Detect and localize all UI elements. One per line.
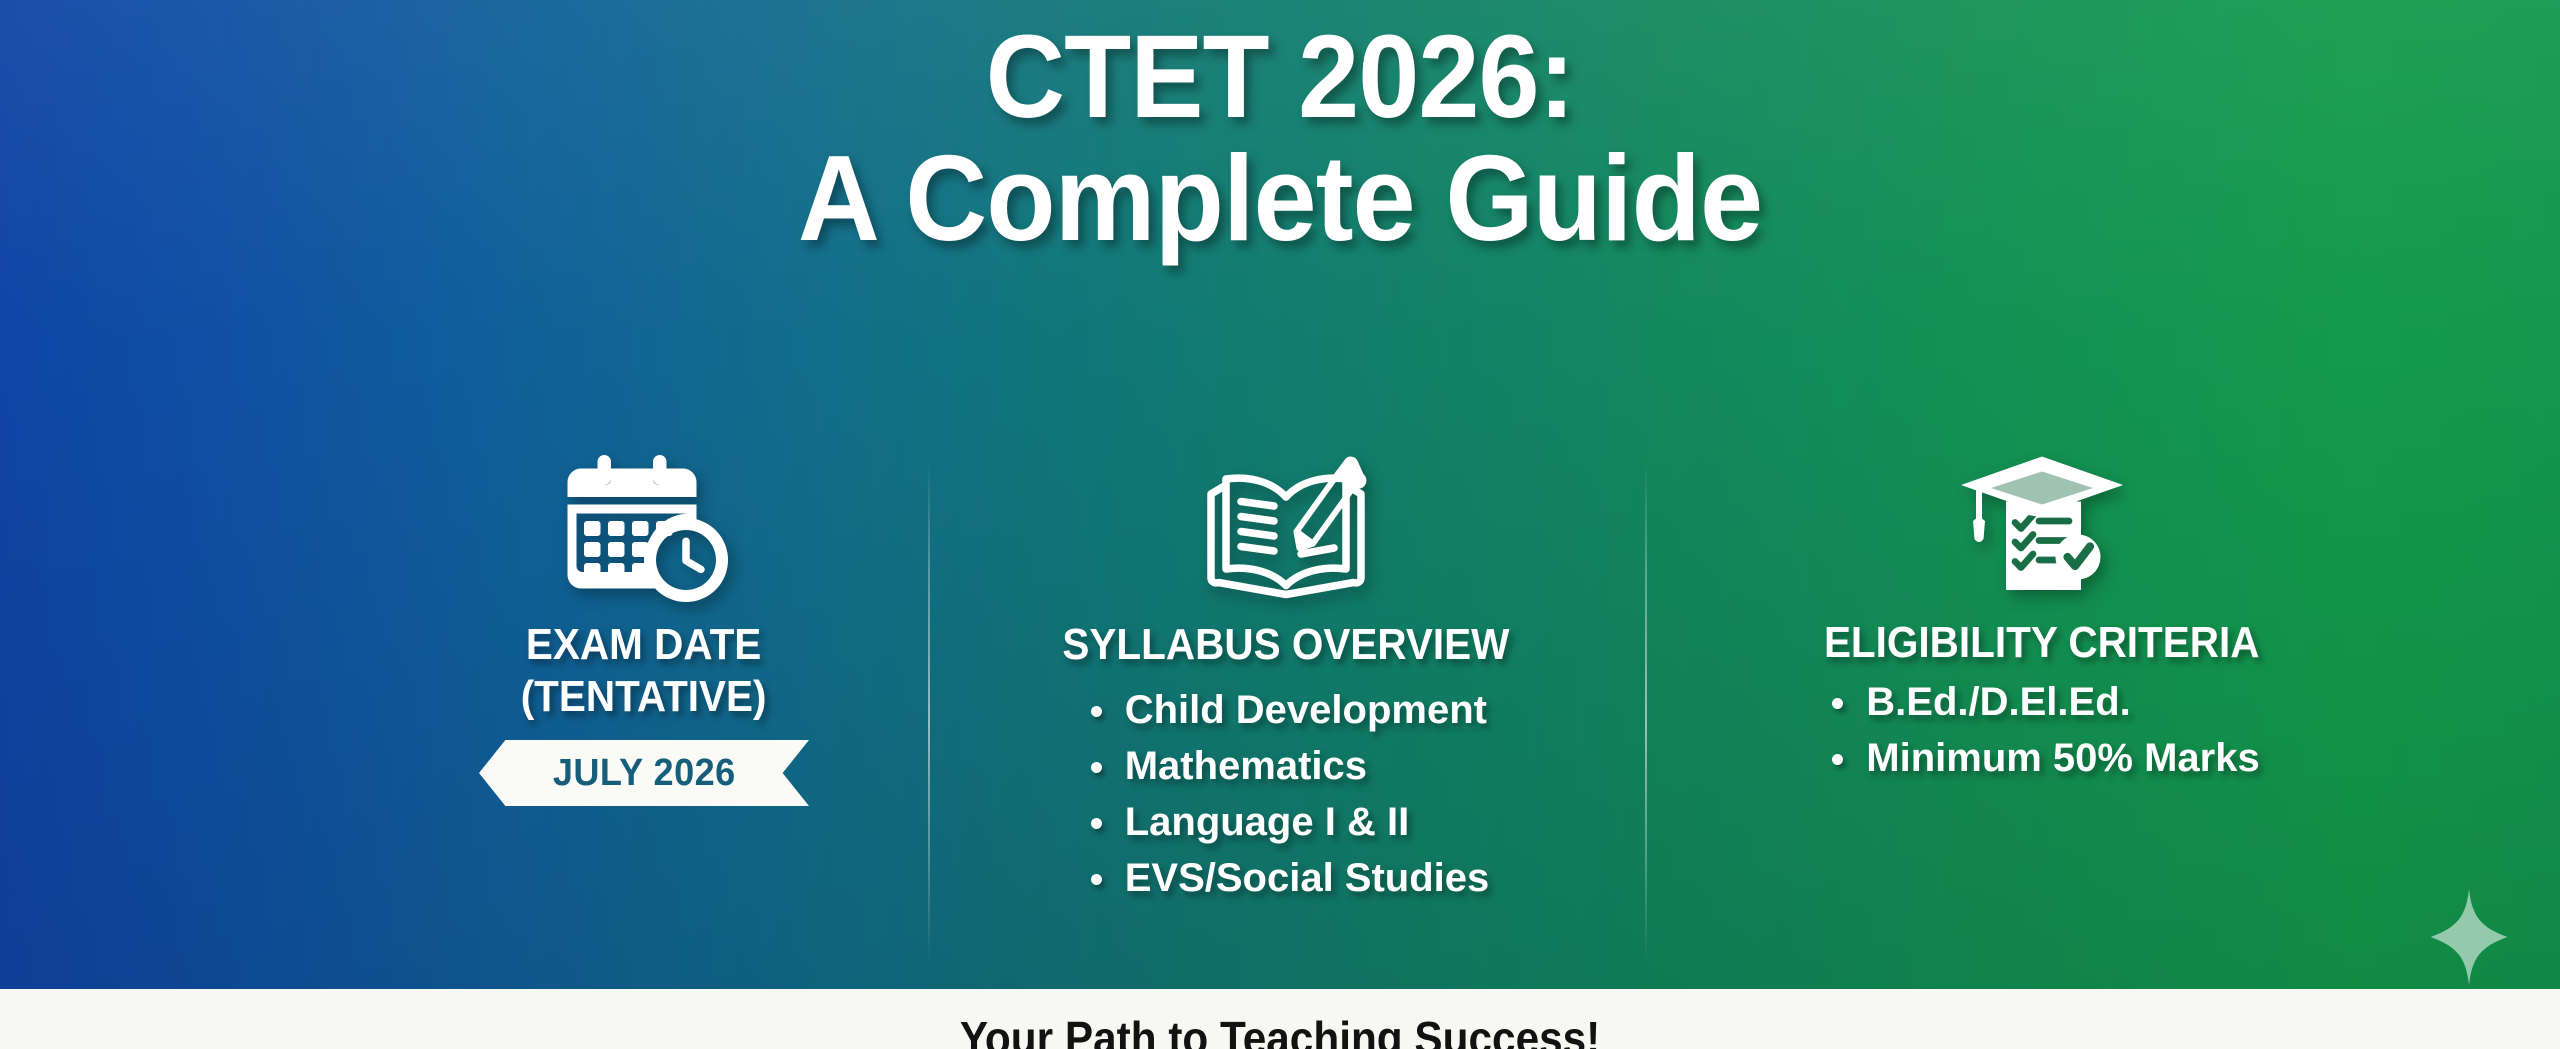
heading-syllabus-text: SYLLABUS OVERVIEW [1063,620,1510,669]
column-exam-date: EXAM DATE (TENTATIVE) JULY 2026 [360,452,928,806]
eligibility-list: B.Ed./D.El.Ed. Minimum 50% Marks [1824,674,2259,786]
graduation-cap-checklist-icon [1949,452,2135,602]
book-pencil-icon [1193,452,1379,602]
list-item: EVS/Social Studies [1083,850,1490,906]
calendar-clock-icon [560,452,728,602]
title-line-2: A Complete Guide [90,134,2471,262]
four-point-sparkle-icon [2430,889,2508,985]
column-eligibility: ELIGIBILITY CRITERIA B.Ed./D.El.Ed. Mini… [1644,452,2440,786]
heading-exam-date-line1: EXAM DATE [526,620,761,669]
heading-syllabus: SYLLABUS OVERVIEW [1063,620,1510,670]
title-line-1: CTET 2026: [90,14,2471,140]
page-title: CTET 2026: A Complete Guide [0,14,2560,262]
feature-columns: EXAM DATE (TENTATIVE) JULY 2026 [360,452,2440,972]
list-item: B.Ed./D.El.Ed. [1824,674,2259,730]
footer-tagline: Your Path to Teaching Success! [960,989,1600,1049]
list-item: Child Development [1083,682,1490,738]
syllabus-list: Child Development Mathematics Language I… [1083,682,1490,906]
column-syllabus: SYLLABUS OVERVIEW Child Development Math… [928,452,1644,906]
heading-eligibility: ELIGIBILITY CRITERIA [1824,618,2260,668]
exam-date-ribbon: JULY 2026 [479,740,809,806]
list-item: Language I & II [1083,794,1490,850]
list-item: Minimum 50% Marks [1824,730,2259,786]
heading-exam-date-line2: (TENTATIVE) [521,672,767,722]
list-item: Mathematics [1083,738,1490,794]
heading-eligibility-text: ELIGIBILITY CRITERIA [1824,618,2260,667]
footer-bar: Your Path to Teaching Success! [0,989,2560,1049]
gradient-background: CTET 2026: A Complete Guide [0,0,2560,989]
exam-date-value: JULY 2026 [553,752,736,795]
ctet-promo-banner: CTET 2026: A Complete Guide [0,0,2560,1049]
heading-exam-date: EXAM DATE (TENTATIVE) [521,620,767,722]
